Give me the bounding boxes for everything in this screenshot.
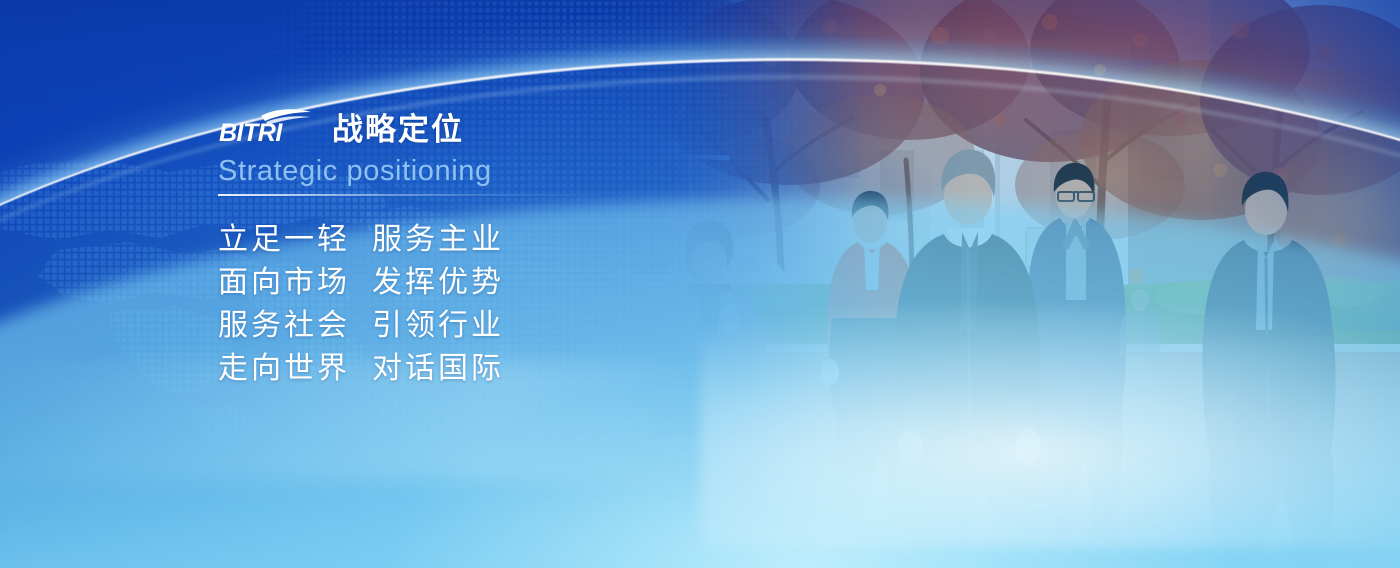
slogan-4-left: 走向世界 (218, 352, 350, 385)
slogan-line-3: 服务社会引领行业 (218, 304, 778, 347)
slogan-2-right: 发挥优势 (372, 266, 504, 299)
banner-subtitle-en: Strategic positioning (218, 154, 778, 188)
slogan-3-right: 引领行业 (372, 309, 504, 342)
slogan-line-1: 立足一轻服务主业 (218, 218, 778, 261)
strategic-positioning-banner: BITRI 战略定位 Strategic positioning 立足一轻服务主… (0, 0, 1400, 568)
bitri-logo: BITRI (218, 106, 318, 148)
slogan-2-left: 面向市场 (218, 266, 350, 299)
slogan-1-right: 服务主业 (372, 223, 504, 256)
title-row: BITRI 战略定位 (218, 104, 778, 148)
banner-text-block: BITRI 战略定位 Strategic positioning 立足一轻服务主… (218, 104, 778, 390)
banner-title-cn: 战略定位 (332, 113, 464, 147)
slogan-1-left: 立足一轻 (218, 223, 350, 256)
title-divider (218, 194, 608, 196)
slogan-line-4: 走向世界对话国际 (218, 347, 778, 390)
svg-text:BITRI: BITRI (219, 119, 283, 147)
slogan-list: 立足一轻服务主业 面向市场发挥优势 服务社会引领行业 走向世界对话国际 (218, 218, 778, 390)
slogan-4-right: 对话国际 (372, 352, 504, 385)
slogan-3-left: 服务社会 (218, 309, 350, 342)
slogan-line-2: 面向市场发挥优势 (218, 261, 778, 304)
